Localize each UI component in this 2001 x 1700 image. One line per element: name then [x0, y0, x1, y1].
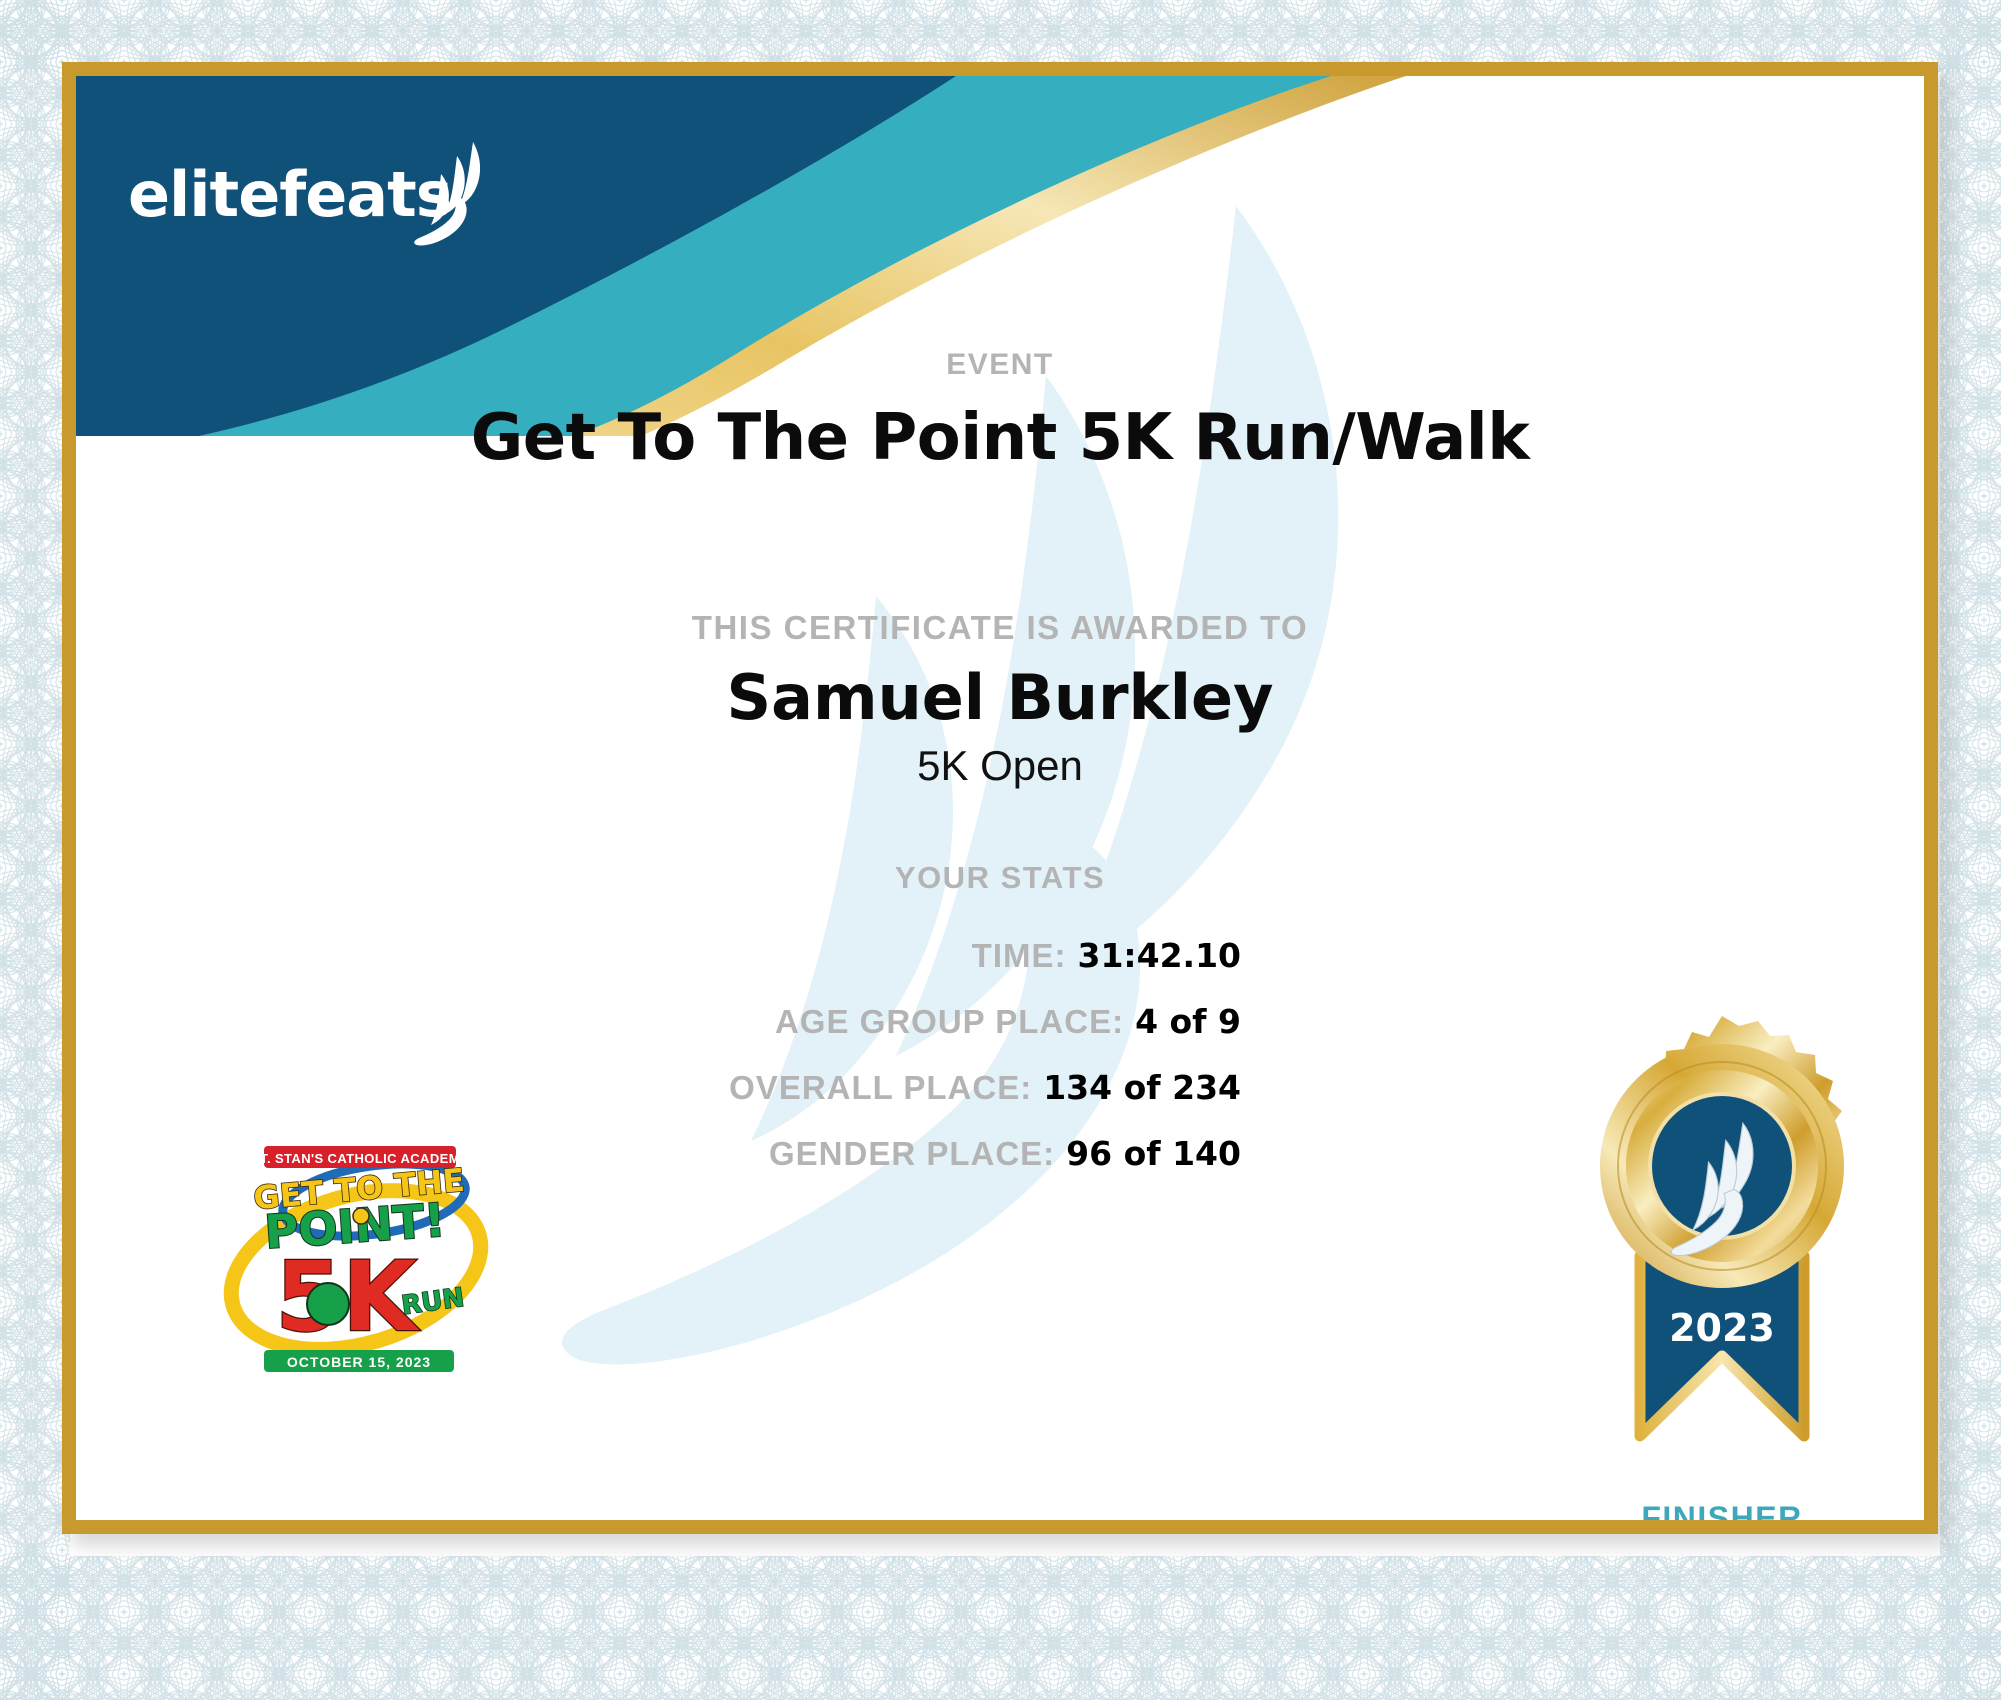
recipient-name: Samuel Burkley [76, 661, 1924, 734]
stat-key: OVERALL PLACE: [729, 1069, 1032, 1107]
elitefeats-wordmark: elitefeats [128, 158, 452, 231]
stat-row-overall-place: OVERALL PLACE: 134 of 234 [436, 1068, 1241, 1107]
event-title: Get To The Point 5K Run/Walk [76, 401, 1924, 475]
stat-value: 96 of 140 [1066, 1134, 1241, 1173]
recipient-division: 5K Open [76, 742, 1924, 790]
awarded-to-label: THIS CERTIFICATE IS AWARDED TO [76, 609, 1924, 647]
stat-value: 4 of 9 [1135, 1002, 1241, 1041]
stat-value: 31:42.10 [1077, 936, 1241, 975]
stat-key: GENDER PLACE: [769, 1135, 1055, 1173]
stat-row-gender-place: GENDER PLACE: 96 of 140 [436, 1134, 1241, 1173]
certificate-card: elitefeats [62, 62, 1938, 1534]
stat-row-time: TIME: 31:42.10 [436, 936, 1241, 975]
stat-value: 134 of 234 [1043, 1068, 1241, 1107]
winged-foot-icon [411, 138, 497, 248]
event-label: EVENT [76, 348, 1924, 382]
logo-banner-bottom: OCTOBER 15, 2023 [287, 1354, 431, 1370]
certificate-page: elitefeats [0, 0, 2001, 1700]
stat-key: AGE GROUP PLACE: [775, 1003, 1124, 1041]
finisher-caption: FINISHER CERTIFICATE [1552, 1500, 1892, 1520]
finisher-caption-line1: FINISHER [1552, 1500, 1892, 1520]
stat-row-age-group-place: AGE GROUP PLACE: 4 of 9 [436, 1002, 1241, 1041]
stat-key: TIME: [972, 937, 1067, 975]
your-stats-label: YOUR STATS [76, 860, 1924, 896]
stats-list: TIME: 31:42.10 AGE GROUP PLACE: 4 of 9 O… [436, 936, 1241, 1200]
get-to-the-point-5k-logo: ST. STAN'S CATHOLIC ACADEMY GET TO THE P… [206, 1138, 506, 1388]
gold-medal-ribbon-icon: 2023 [1552, 1006, 1892, 1506]
medal-year: 2023 [1669, 1306, 1775, 1350]
finisher-medal-block: 2023 [1552, 1006, 1892, 1520]
